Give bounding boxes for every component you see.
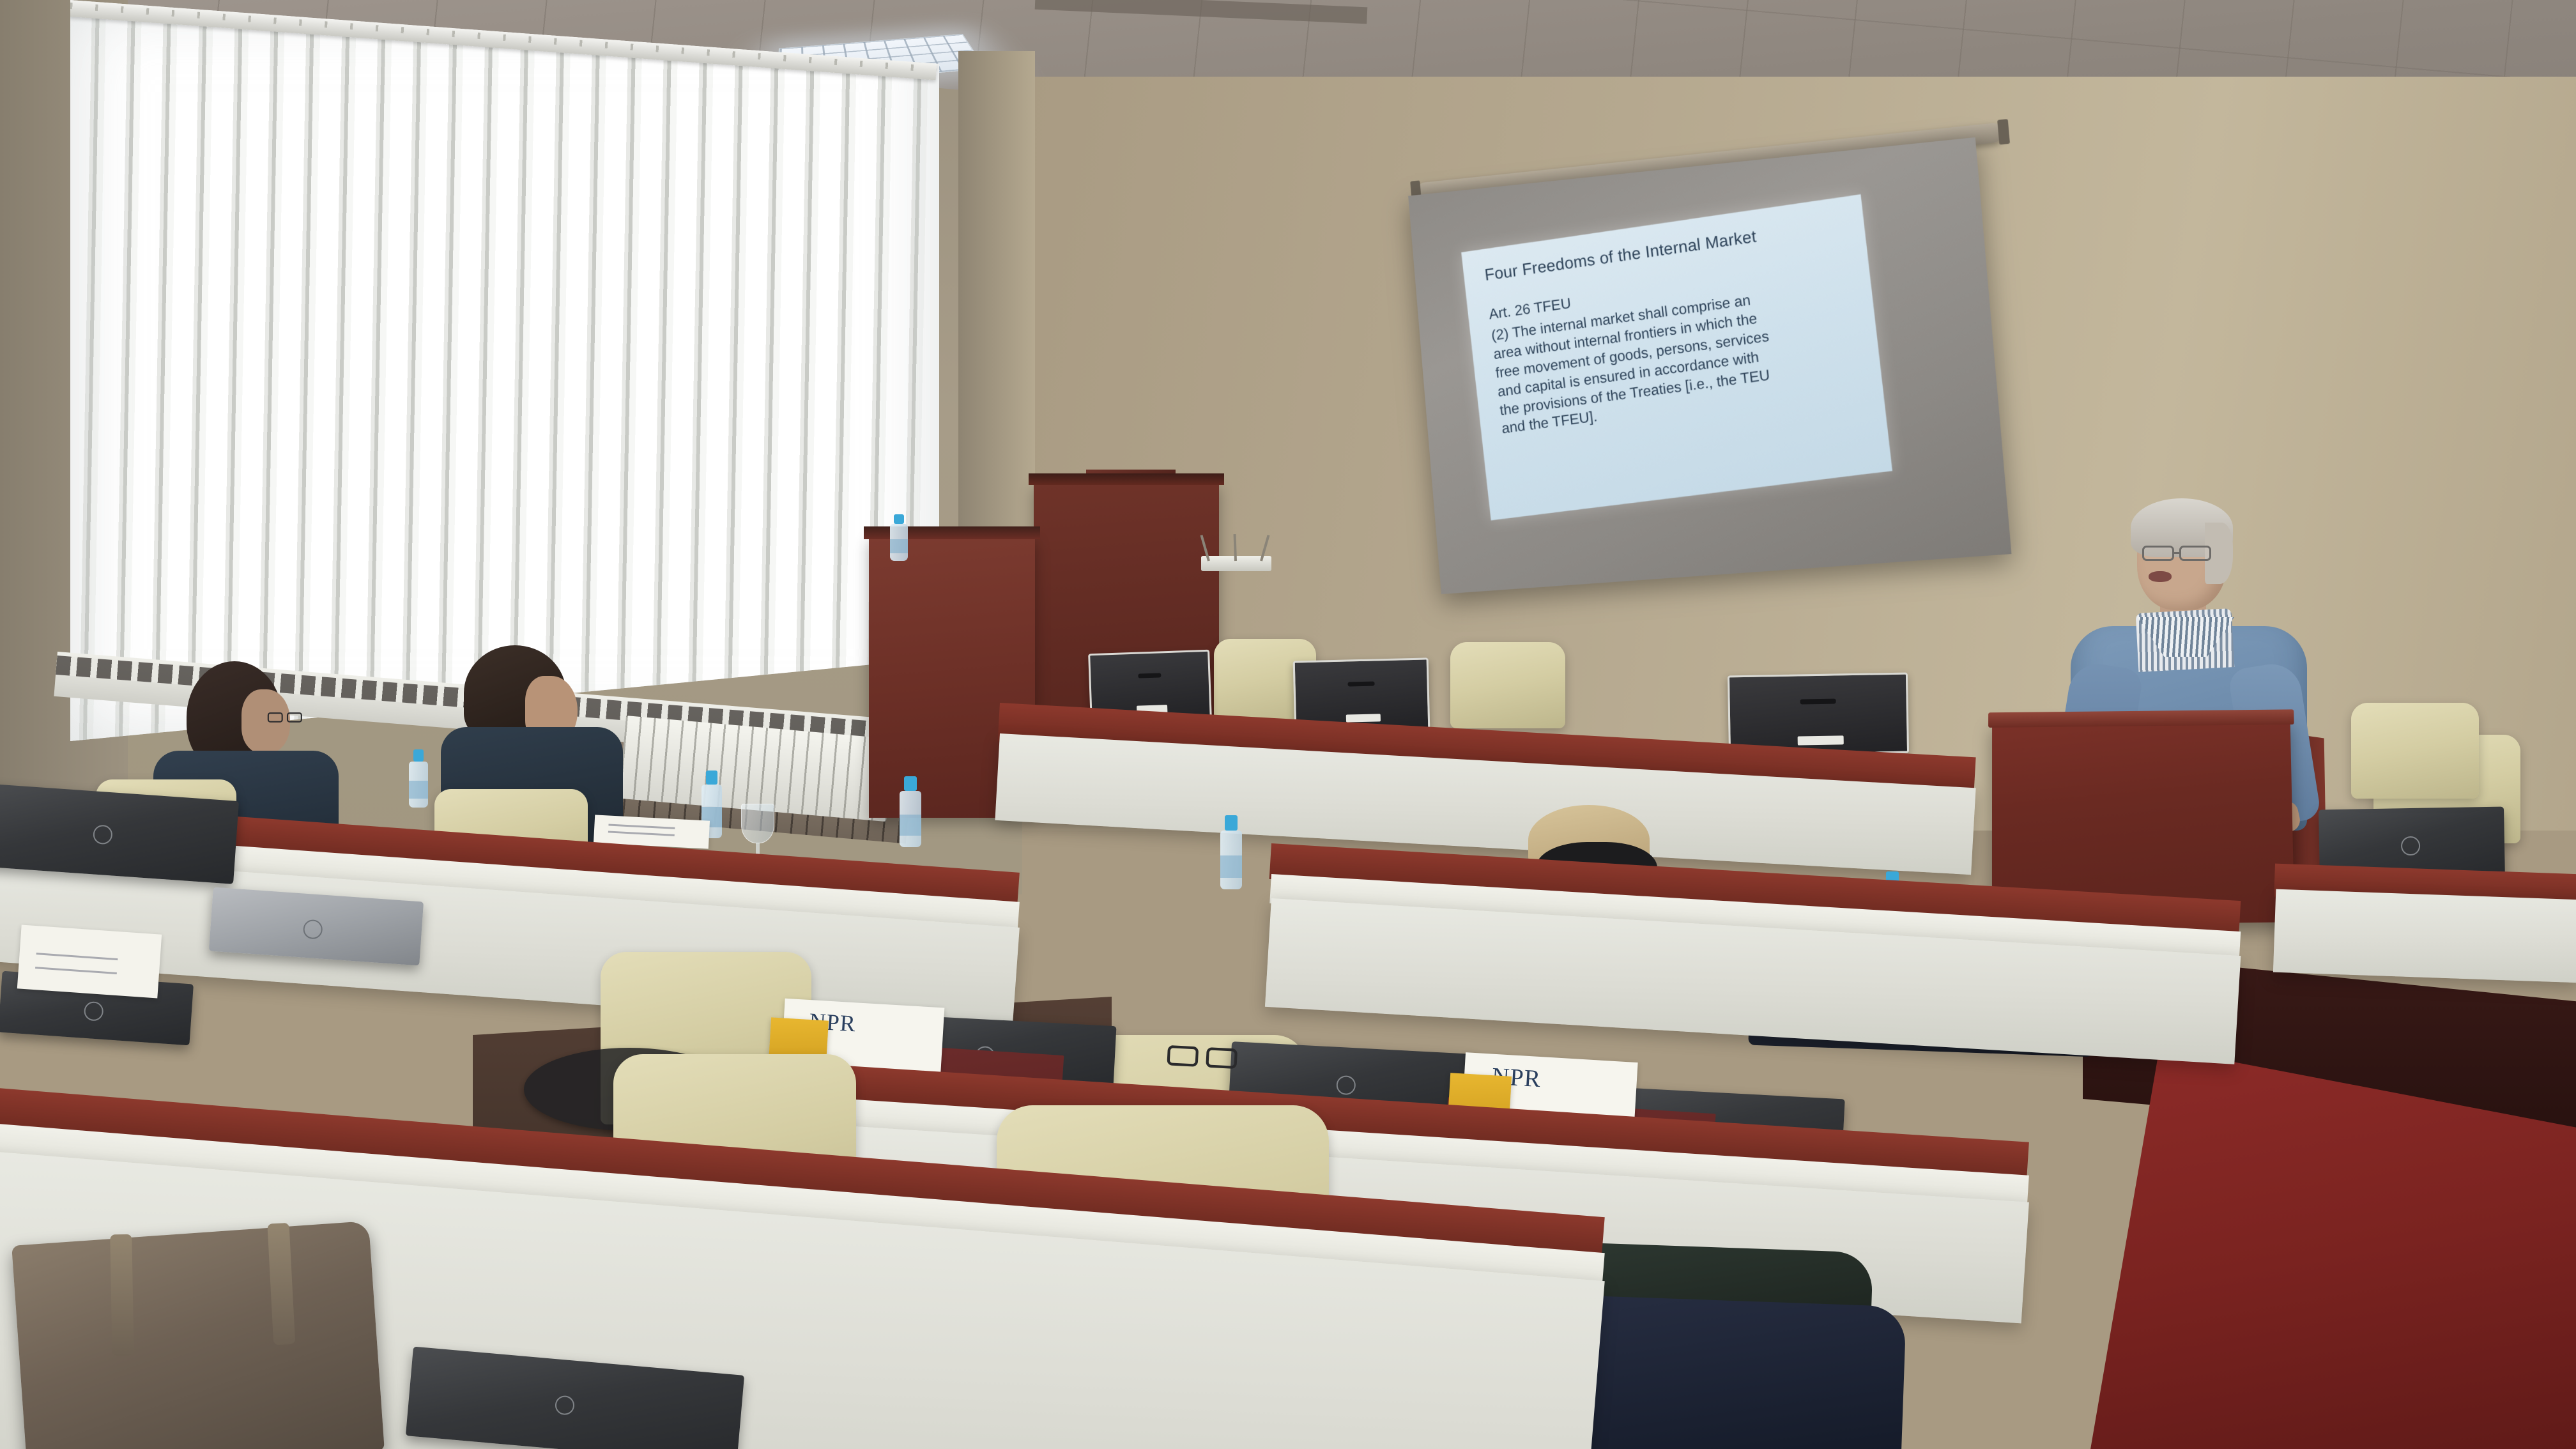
bottle-label <box>900 815 921 836</box>
water-bottle-row2-a[interactable] <box>409 762 428 808</box>
lens-right <box>1206 1047 1238 1069</box>
water-bottle-row2-right[interactable] <box>1220 831 1242 889</box>
presenter-mouth <box>2149 571 2172 582</box>
monitor-stand-nub <box>1348 681 1374 686</box>
paper-rule <box>608 824 675 829</box>
lecture-hall-photo: Four Freedoms of the Internal Market Art… <box>0 0 2576 1449</box>
eyeglasses-icon <box>268 712 307 724</box>
bottle-cap-icon <box>706 770 717 785</box>
monitor-label <box>1797 735 1843 746</box>
monitor-label <box>1346 714 1381 723</box>
chair-row1-c[interactable] <box>2351 703 2479 799</box>
water-bottle-row2-c[interactable] <box>900 791 921 847</box>
lens-left <box>268 712 283 723</box>
lens-left <box>2142 546 2174 561</box>
bottle-label <box>409 781 428 798</box>
handbag <box>11 1221 385 1449</box>
lens-right <box>2179 546 2211 561</box>
projection-screen: Four Freedoms of the Internal Market Art… <box>1421 144 2004 601</box>
paper-rule <box>36 953 118 960</box>
screen-surface: Four Freedoms of the Internal Market Art… <box>1408 137 2011 594</box>
projected-slide: Four Freedoms of the Internal Market Art… <box>1461 194 1892 520</box>
chair-row1-b[interactable] <box>1450 642 1565 728</box>
bottle-cap-icon <box>1225 815 1237 831</box>
monitor-stand-nub <box>1138 673 1161 679</box>
lectern-top-edge <box>1988 709 2294 728</box>
eyeglasses-icon <box>2142 546 2221 562</box>
bottle-label <box>890 539 908 553</box>
window <box>70 0 939 741</box>
monitor-stand-nub <box>1800 699 1836 705</box>
bottle-cap-icon <box>413 749 424 762</box>
bottle-cap-icon <box>904 776 916 791</box>
handbag-handle <box>110 1234 134 1356</box>
bottle-label <box>1220 855 1242 878</box>
monitor-3[interactable] <box>1728 673 1909 756</box>
paper-foreground-left <box>17 924 162 998</box>
wine-glass-row2[interactable] <box>741 804 774 843</box>
lens-right <box>287 712 302 723</box>
eyeglasses-on-desk[interactable] <box>1167 1045 1248 1072</box>
water-bottle-cabinet[interactable] <box>890 524 908 561</box>
vertical-blinds[interactable] <box>70 0 939 741</box>
laptop-foreground-left[interactable] <box>0 783 239 884</box>
handbag-handle <box>267 1223 295 1345</box>
av-cabinet-top <box>1029 473 1224 485</box>
paper-rule <box>35 967 116 974</box>
paper-rule <box>608 831 674 836</box>
bottle-cap-icon <box>894 514 904 524</box>
desk-front-right <box>2273 889 2576 983</box>
lens-left <box>1167 1045 1199 1067</box>
wifi-router <box>1201 556 1271 571</box>
